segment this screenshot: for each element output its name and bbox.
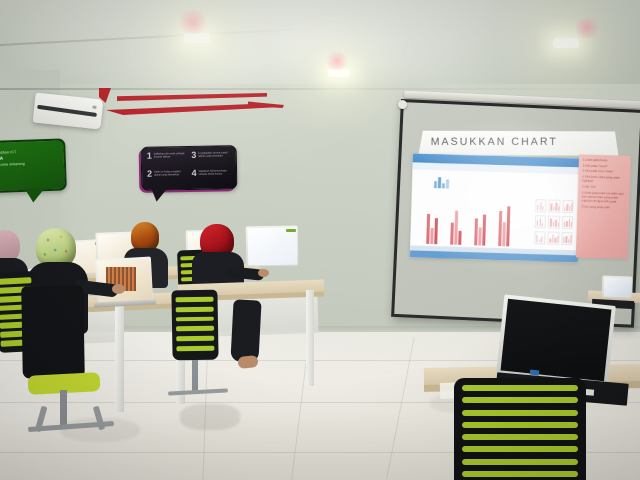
dark-speech-bubble-decal: 1 Daftarkan diri anda sebagai peserta la… — [141, 145, 238, 191]
chair-backrest — [171, 290, 218, 361]
lens-flare — [572, 18, 602, 38]
ac-indicator-light — [92, 106, 96, 109]
ceiling-light-3 — [553, 38, 579, 48]
chart-thumbnail — [548, 231, 560, 244]
chart-thumbnail — [561, 232, 573, 245]
chart-thumbnail — [562, 200, 574, 213]
ceiling-light-wash — [0, 0, 640, 96]
laptop-lid — [496, 294, 616, 385]
chart-thumbnail — [535, 215, 547, 228]
green-bubble-text: Dapatkan latihan ICT PERDANA secara perc… — [0, 140, 64, 168]
desk-leg — [306, 290, 314, 386]
wall-ceiling-junction — [0, 88, 640, 90]
ceiling-light-1 — [184, 33, 210, 43]
instruction-step: 6.Anda juga boleh memilih style dan warn… — [581, 190, 626, 204]
bubble-step: 4 Dapatkan sijil penyertaan selepas tama… — [192, 168, 233, 186]
classroom-photo: Dapatkan latihan ICT PERDANA secara perc… — [0, 0, 640, 480]
excel-screenshot — [410, 153, 581, 262]
desk-leg — [115, 306, 124, 412]
chair-backrest — [21, 285, 85, 378]
lens-flare — [324, 52, 350, 70]
chart-thumbnail — [534, 231, 546, 244]
hand — [112, 284, 125, 294]
instruction-step: 4.Pilih jenis chart yang anda inginkan — [582, 175, 627, 185]
laptop-sticker — [286, 229, 296, 232]
laptop-screen — [603, 277, 631, 297]
bubble-step-grid: 1 Daftarkan diri anda sebagai peserta la… — [147, 150, 233, 186]
slide-title: MASUKKAN CHART — [431, 136, 558, 148]
slide-bar-chart — [424, 200, 529, 247]
ceiling-light-2 — [328, 69, 350, 77]
laptop-brand-badge — [530, 370, 539, 376]
chart-thumbnail — [561, 216, 573, 229]
bubble-step: 3 Lengkapkan semua modul latihan asas ko… — [191, 150, 232, 168]
legs — [230, 299, 261, 362]
chart-thumbnail — [549, 200, 561, 213]
instruction-step: 1.Lihat pada home — [583, 158, 628, 164]
laptop-lid — [602, 275, 633, 298]
projected-slide: MASUKKAN CHART — [410, 127, 625, 276]
bubble-tail — [25, 188, 45, 203]
chart-thumbnail — [535, 199, 547, 212]
chair-post — [192, 360, 198, 394]
bubble-step: 2 Hadir ke kelas mengikut jadual yang di… — [147, 169, 188, 187]
bubble-tail — [151, 188, 167, 201]
lens-flare — [176, 10, 210, 34]
chart-icon — [434, 176, 448, 188]
bubble-step: 1 Daftarkan diri anda sebagai peserta la… — [147, 151, 188, 169]
laptop-screen — [501, 299, 612, 381]
slide-instruction-panel: 1.Lihat pada home 2.Klik pada "insert" 3… — [576, 154, 631, 259]
hand — [258, 269, 269, 277]
laptop-screen — [247, 227, 297, 265]
chair-backrest — [454, 378, 586, 480]
projector-screen-bracket — [398, 100, 407, 109]
floor-reflection-blob — [180, 404, 240, 430]
chart-type-gallery — [534, 199, 573, 245]
instruction-step: Chart yang anda pilih — [581, 204, 626, 210]
instruction-step: 3.Klik pada icon "chart" — [582, 169, 627, 175]
instruction-step: 2.Klik pada "insert" — [583, 163, 628, 169]
green-speech-bubble-decal: Dapatkan latihan ICT PERDANA secara perc… — [0, 138, 67, 193]
ac-vent — [37, 105, 97, 117]
chart-thumbnail — [548, 216, 560, 229]
chair-post — [60, 390, 67, 428]
instruction-step: 5.Klik "Ok" — [582, 185, 627, 191]
